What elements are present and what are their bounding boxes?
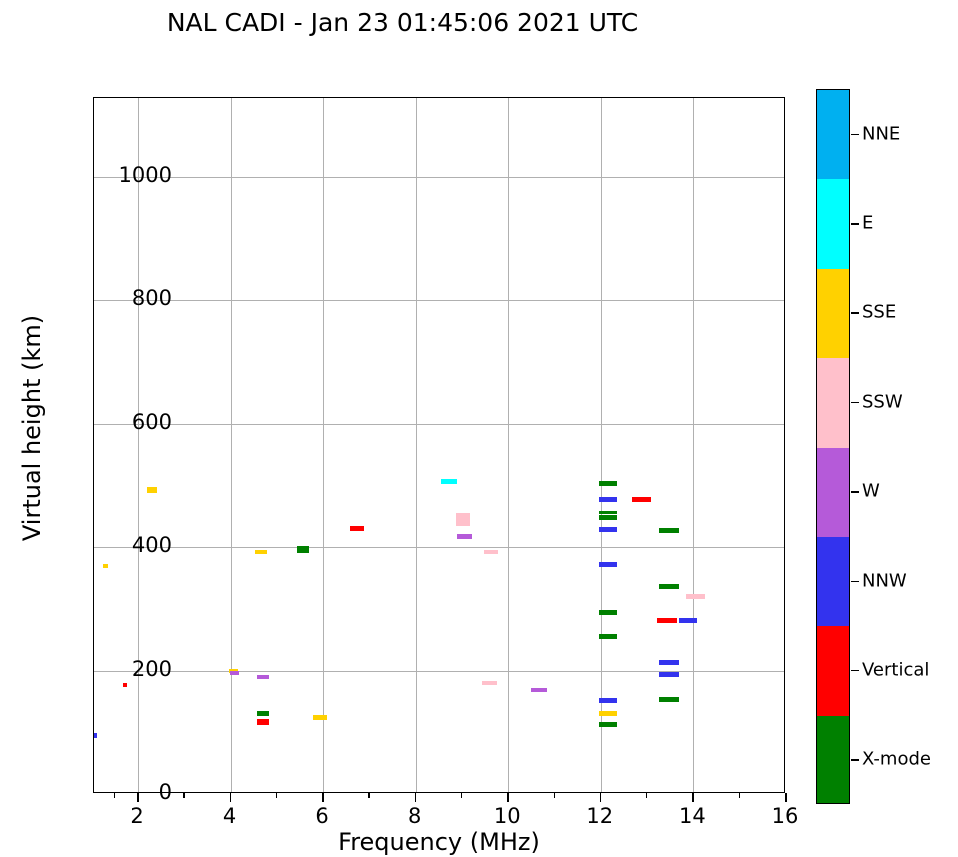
x-axis-minor-tick (114, 793, 115, 798)
data-mark (659, 660, 678, 665)
x-axis-minor-tick (739, 793, 740, 798)
colorbar-label-nne: NNE (862, 123, 900, 144)
colorbar-label-sse: SSE (862, 302, 896, 323)
x-axis-minor-tick (368, 793, 369, 798)
data-mark (599, 610, 618, 615)
y-axis-title: Virtual height (km) (18, 238, 46, 618)
gridline-vertical (601, 98, 602, 792)
data-mark (313, 715, 327, 720)
x-axis-tick (692, 793, 694, 802)
colorbar-segment-sse (817, 269, 849, 359)
data-mark (599, 698, 618, 703)
x-axis-minor-tick (461, 793, 462, 798)
colorbar-label-x-mode: X-mode (862, 749, 931, 770)
gridline-horizontal (94, 300, 784, 301)
colorbar-segment-w (817, 448, 849, 538)
data-mark (257, 711, 269, 716)
data-mark (94, 733, 97, 738)
gridline-horizontal (94, 177, 784, 178)
colorbar-label-w: W (862, 481, 880, 502)
data-mark (230, 671, 239, 675)
gridline-vertical (693, 98, 694, 792)
colorbar-tick (851, 402, 859, 404)
x-axis-minor-tick (276, 793, 277, 798)
data-mark (255, 550, 267, 554)
data-mark (659, 584, 678, 589)
data-mark (599, 515, 618, 520)
x-axis-tick (230, 793, 232, 802)
data-mark (686, 594, 705, 599)
x-axis-tick-label: 12 (570, 804, 630, 828)
colorbar-segment-nnw (817, 537, 849, 627)
x-axis-tick (137, 793, 139, 802)
gridline-vertical (508, 98, 509, 792)
colorbar-label-vertical: Vertical (862, 659, 929, 680)
x-axis-minor-tick (646, 793, 647, 798)
colorbar-tick (851, 134, 859, 136)
y-axis-tick-label: 600 (52, 410, 172, 434)
data-mark (599, 634, 618, 639)
plot-area (93, 97, 785, 793)
colorbar-tick (851, 581, 859, 583)
x-axis-minor-tick (554, 793, 555, 798)
y-axis-tick-label: 1000 (52, 163, 172, 187)
data-mark (257, 675, 269, 679)
data-mark (659, 528, 678, 533)
colorbar-label-nnw: NNW (862, 570, 907, 591)
x-axis-tick-label: 6 (292, 804, 352, 828)
y-axis-tick-label: 400 (52, 533, 172, 557)
x-axis-tick-label: 10 (477, 804, 537, 828)
colorbar-tick (851, 312, 859, 314)
gridline-vertical (138, 98, 139, 792)
colorbar-segment-ssw (817, 358, 849, 448)
data-mark (599, 711, 618, 716)
data-mark (599, 722, 618, 727)
x-axis-tick-label: 4 (200, 804, 260, 828)
gridline-horizontal (94, 547, 784, 548)
x-axis-tick (600, 793, 602, 802)
colorbar-tick (851, 223, 859, 225)
x-axis-title: Frequency (MHz) (93, 828, 785, 856)
data-mark (441, 479, 457, 484)
data-mark (457, 534, 472, 539)
data-mark (257, 719, 269, 725)
data-mark (599, 562, 618, 567)
data-mark (659, 672, 678, 677)
colorbar-segment-e (817, 179, 849, 269)
data-mark (147, 487, 157, 493)
y-axis-tick-label: 0 (52, 780, 172, 804)
colorbar-tick (851, 759, 859, 761)
data-mark (599, 497, 618, 502)
plot-canvas (94, 98, 784, 792)
data-mark (103, 564, 109, 568)
colorbar-label-e: E (862, 213, 873, 234)
x-axis-tick (785, 793, 787, 802)
colorbar-segment-x-mode (817, 716, 849, 804)
data-mark (632, 497, 651, 502)
x-axis-tick-label: 8 (385, 804, 445, 828)
data-mark (484, 550, 498, 554)
colorbar-tick (851, 491, 859, 493)
colorbar-tick (851, 670, 859, 672)
x-axis-minor-tick (183, 793, 184, 798)
data-mark (599, 511, 618, 514)
x-axis-tick-label: 2 (107, 804, 167, 828)
data-mark (531, 688, 547, 692)
gridline-vertical (323, 98, 324, 792)
gridline-horizontal (94, 671, 784, 672)
x-axis-tick (322, 793, 324, 802)
gridline-horizontal (94, 424, 784, 425)
y-axis-tick-label: 200 (52, 657, 172, 681)
data-mark (599, 481, 618, 486)
x-axis-tick (415, 793, 417, 802)
x-axis-tick-label: 16 (755, 804, 815, 828)
page-title: NAL CADI - Jan 23 01:45:06 2021 UTC (0, 8, 805, 37)
data-mark (657, 618, 676, 623)
colorbar (816, 89, 850, 804)
data-mark (659, 697, 678, 702)
data-mark (297, 546, 309, 553)
gridline-vertical (231, 98, 232, 792)
colorbar-label-ssw: SSW (862, 391, 903, 412)
y-axis-tick-label: 800 (52, 286, 172, 310)
data-mark (599, 527, 618, 532)
ionogram-figure: NAL CADI - Jan 23 01:45:06 2021 UTC 0200… (0, 0, 958, 857)
colorbar-segment-nne (817, 90, 849, 180)
data-mark (679, 618, 697, 623)
x-axis-tick (507, 793, 509, 802)
data-mark (350, 526, 365, 531)
data-mark (482, 681, 497, 685)
colorbar-segment-vertical (817, 626, 849, 716)
data-mark (456, 513, 471, 526)
gridline-vertical (416, 98, 417, 792)
x-axis-tick-label: 14 (662, 804, 722, 828)
data-mark (123, 683, 128, 687)
